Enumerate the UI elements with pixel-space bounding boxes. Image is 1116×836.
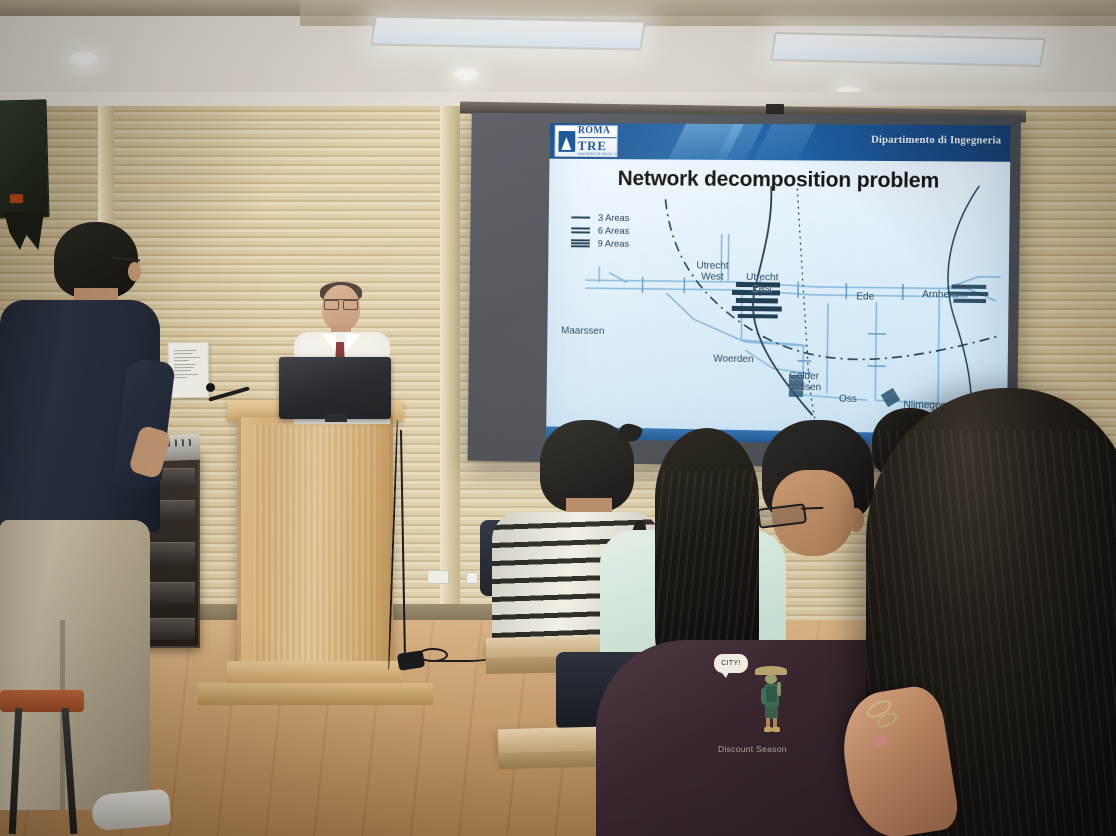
map-label-ede: Ede: [856, 291, 874, 302]
ceiling-downlight-1: [68, 52, 100, 67]
roma-tre-logo: ROMA TRE UNIVERSITA DEGLI STUDI: [554, 125, 617, 157]
podium-monitor-stand: [325, 414, 347, 422]
map-label-oss: Oss: [839, 394, 857, 405]
presenter-collar-right: [346, 334, 360, 352]
lecture-hall-photo: ROMA TRE UNIVERSITA DEGLI STUDI Dipartim…: [0, 0, 1116, 836]
technician-shoe: [91, 789, 172, 832]
podium-plinth: [198, 683, 433, 705]
slide-header-band: ROMA TRE UNIVERSITA DEGLI STUDI Dipartim…: [549, 123, 1010, 162]
wall-socket-3: [466, 572, 478, 584]
microphone-head: [206, 383, 215, 392]
logo-text-tre: TRE: [578, 139, 618, 152]
presenter-glasses: [323, 299, 359, 307]
speaker-logo-badge: [10, 194, 23, 203]
roma-tre-emblem-icon: [558, 131, 575, 152]
stool-seat: [0, 690, 84, 712]
slide-department-label: Dipartimento di Ingegneria: [871, 135, 1001, 147]
audience-3-ear: [848, 508, 864, 532]
logo-text-roma: ROMA: [578, 126, 618, 138]
tshirt-character-graphic: [756, 672, 786, 734]
podium-base: [227, 661, 403, 685]
ceiling-downlight-2: [452, 68, 480, 82]
technician-ear: [128, 262, 141, 281]
presenter-collar-left: [322, 334, 336, 352]
podium: [237, 417, 393, 670]
wall-socket-2: [427, 570, 449, 584]
tshirt-character-svg: [756, 672, 786, 734]
railway-network-map: Maarssen Utrecht West Utrecht East Woerd…: [546, 181, 1010, 435]
map-label-utrecht-east: Utrecht East: [746, 272, 779, 294]
logo-subtitle: UNIVERSITA DEGLI STUDI: [578, 152, 618, 156]
presentation-slide: ROMA TRE UNIVERSITA DEGLI STUDI Dipartim…: [546, 123, 1011, 447]
wall-speaker: [0, 99, 50, 218]
technician-trousers: [0, 520, 150, 810]
network-map-svg: [546, 181, 1010, 435]
podium-monitor: [279, 357, 391, 419]
tshirt-speech-bubble-graphic: CITY!: [714, 654, 748, 673]
map-label-utrecht-west: Utrecht West: [696, 261, 728, 283]
wall-notice-paper: [168, 342, 210, 399]
ceiling-led-panel-left: [370, 15, 646, 50]
ceiling-led-panel-right: [770, 32, 1046, 67]
map-label-arnhem: Arnhem: [922, 289, 958, 301]
tshirt-bubble-text: CITY!: [721, 660, 740, 667]
map-label-geldermalsen: Gelder malsen: [789, 371, 822, 394]
tshirt-caption-text: Discount Season: [718, 744, 787, 754]
map-label-woerden: Woerden: [713, 354, 753, 366]
map-label-maarssen: Maarssen: [561, 326, 604, 338]
